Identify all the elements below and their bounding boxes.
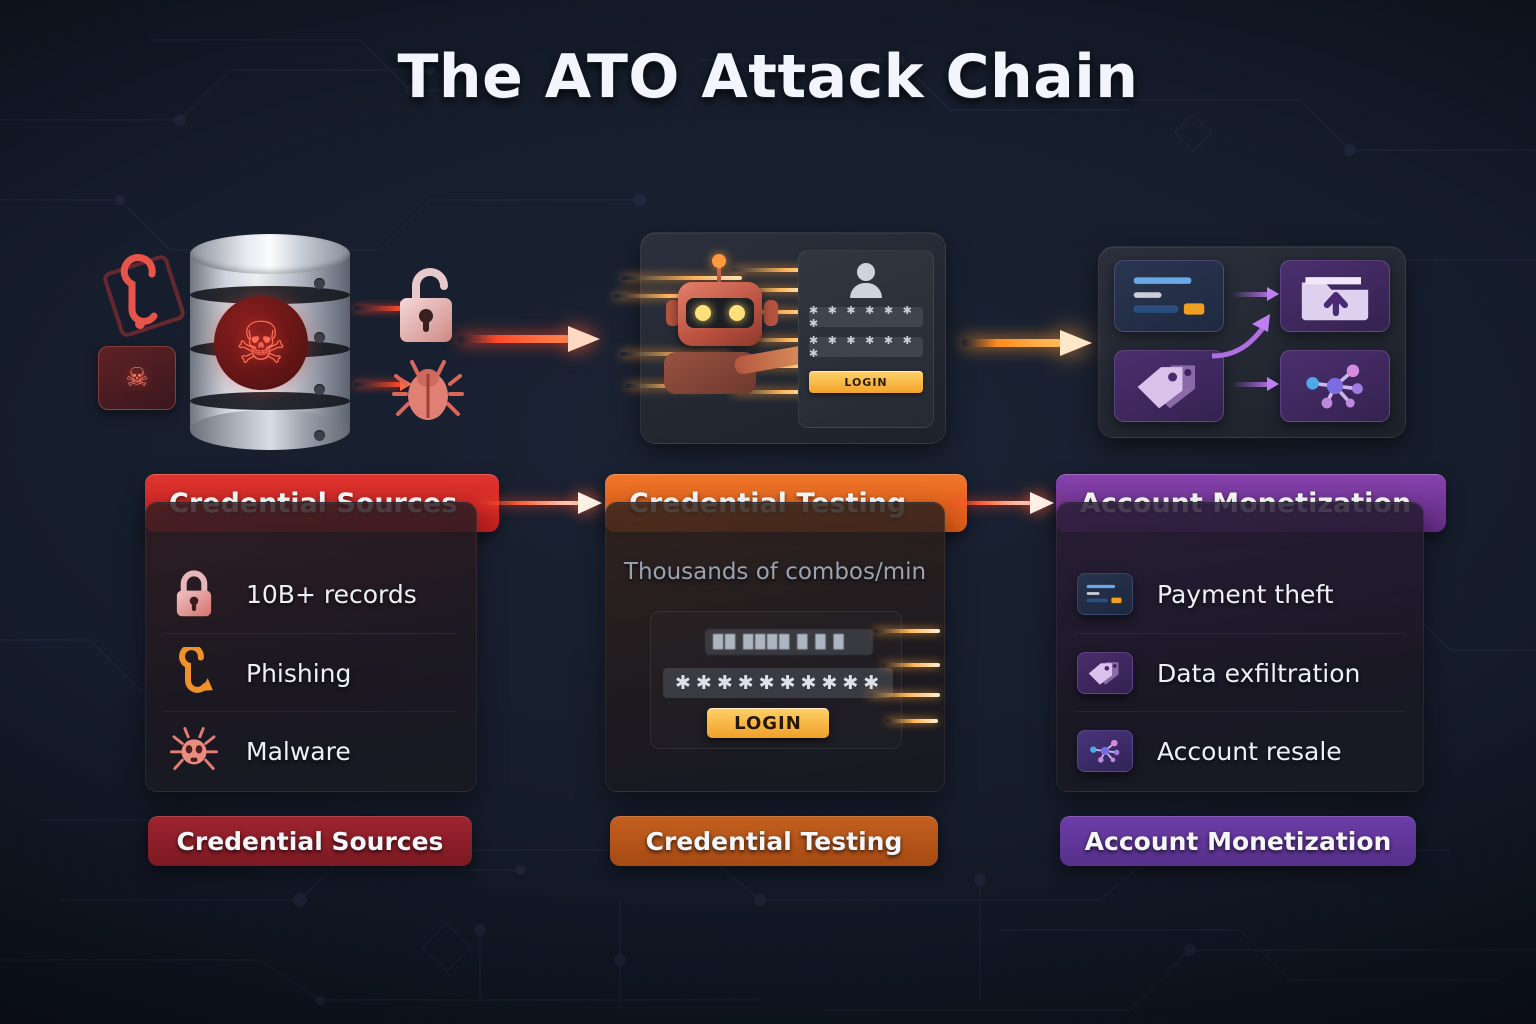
database-skull-icon: ☠	[190, 234, 350, 449]
list-item-label: Malware	[246, 737, 351, 766]
username-field-mock: ✱ ✱ ✱ ✱ ✱ ✱ ✱	[809, 307, 923, 327]
credential-stuffing-bot-illustration: ✱ ✱ ✱ ✱ ✱ ✱ ✱ ✱ ✱ ✱ ✱ ✱ ✱ ✱ LOGIN	[640, 232, 946, 444]
user-avatar-icon	[663, 626, 693, 658]
list-item-label: 10B+ records	[246, 580, 417, 609]
open-padlock-icon	[394, 264, 464, 350]
list-item-label: Account resale	[1157, 737, 1342, 766]
phase-card-credential-sources: 10B+ records Phishing	[145, 502, 477, 792]
list-item[interactable]: Data exfiltration	[1075, 633, 1405, 712]
arrow-sources-to-testing	[478, 496, 602, 510]
breached-database-illustration: ☠ ☠	[92, 218, 592, 468]
list-item-label: Phishing	[246, 659, 351, 688]
list-item[interactable]: Malware	[164, 711, 458, 790]
infographic-canvas: The ATO Attack Chain ☠ ☠	[0, 0, 1536, 1024]
arrow-card-to-folder	[1232, 292, 1270, 297]
arrow-testing-to-monetization	[946, 496, 1054, 510]
folder-skull-icon: ☠	[98, 346, 176, 410]
login-panel-mock: ✱ ✱ ✱ ✱ ✱ ✱ ✱ ✱ ✱ ✱ ✱ ✱ ✱ ✱ LOGIN	[798, 250, 934, 428]
list-item[interactable]: 10B+ records	[164, 555, 458, 633]
list-item-label: Data exfiltration	[1157, 659, 1360, 688]
arrow-tags-to-network	[1232, 382, 1270, 387]
price-tags-icon	[1114, 350, 1224, 422]
phase-card-credential-testing: Thousands of combos/min ██ ████ █ █ █ ✱✱…	[605, 502, 945, 792]
password-input-mock[interactable]: ✱✱✱✱✱✱✱✱✱✱	[663, 668, 893, 698]
list-item[interactable]: Account resale	[1075, 711, 1405, 790]
footer-pill-credential-testing[interactable]: Credential Testing	[610, 816, 938, 866]
list-item[interactable]: Payment theft	[1075, 555, 1405, 633]
footer-pill-credential-sources[interactable]: Credential Sources	[148, 816, 472, 866]
password-field-mock: ✱ ✱ ✱ ✱ ✱ ✱ ✱	[809, 337, 923, 357]
user-avatar-icon	[849, 263, 883, 297]
monetization-tiles-illustration	[1098, 246, 1406, 438]
username-input-mock[interactable]: ██ ████ █ █ █	[705, 629, 873, 655]
price-tags-icon	[1075, 643, 1135, 703]
padlock-icon	[164, 564, 224, 624]
arrow-tags-to-folder	[1210, 306, 1282, 364]
testing-subtitle: Thousands of combos/min	[606, 559, 944, 585]
phishing-hook-icon	[164, 643, 224, 703]
malware-spider-icon	[164, 721, 224, 781]
credit-card-icon	[1075, 564, 1135, 624]
list-item-label: Payment theft	[1157, 580, 1334, 609]
arrow-testing-stage	[962, 330, 1092, 356]
login-form-mock: ██ ████ █ █ █ ✱✱✱✱✱✱✱✱✱✱ LOGIN	[650, 611, 902, 749]
footer-pill-account-monetization[interactable]: Account Monetization	[1060, 816, 1416, 866]
login-button[interactable]: LOGIN	[707, 708, 829, 738]
page-title: The ATO Attack Chain	[0, 42, 1536, 112]
login-button-mock[interactable]: LOGIN	[809, 371, 923, 393]
credit-card-icon	[1114, 260, 1224, 332]
phase-card-account-monetization: Payment theft Data exfiltration	[1056, 502, 1424, 792]
list-item[interactable]: Phishing	[164, 633, 458, 712]
phishing-hook-icon	[100, 254, 194, 346]
arrow-sources-stage	[458, 326, 600, 352]
malware-bug-icon	[392, 358, 464, 428]
bot-robot-icon	[654, 260, 804, 410]
network-graph-icon	[1075, 721, 1135, 781]
folder-upload-icon	[1280, 260, 1390, 332]
network-graph-icon	[1280, 350, 1390, 422]
